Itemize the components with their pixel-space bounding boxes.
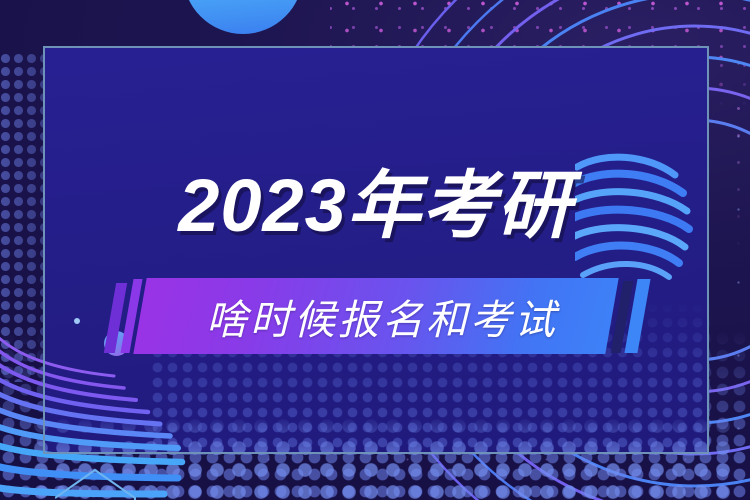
poster-title: 2023年考研 [178, 168, 572, 243]
subtitle-banner-group: 啥时候报名和考试 [0, 277, 750, 361]
chevron-outline-decoration [55, 468, 180, 500]
poster-subtitle: 啥时候报名和考试 [206, 286, 558, 346]
subtitle-text-container: 啥时候报名和考试 [0, 277, 750, 355]
title-container: 2023年考研 [0, 168, 750, 243]
poster-canvas: 2023年考研 啥时候报名和考试 [0, 0, 750, 500]
